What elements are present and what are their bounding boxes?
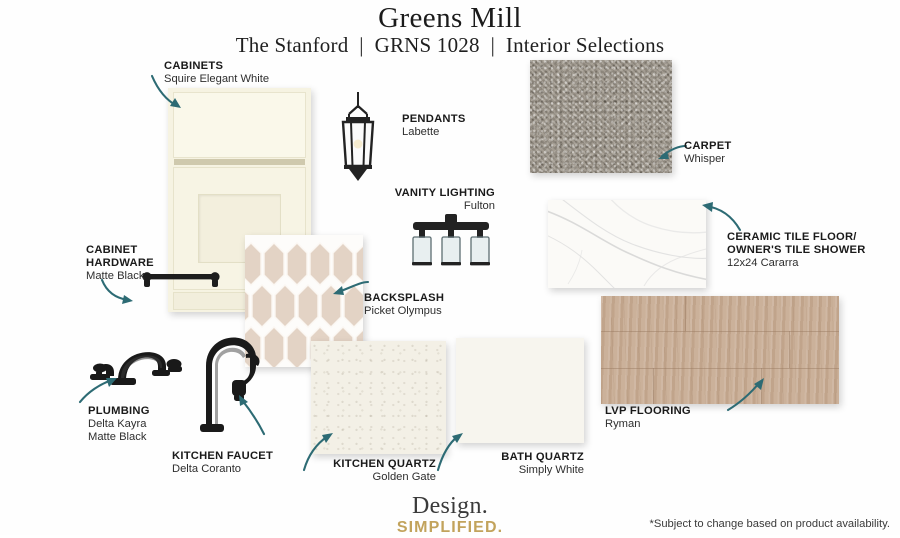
label-ceramic-tile: CERAMIC TILE FLOOR/ OWNER'S TILE SHOWER … — [727, 231, 887, 270]
selections-board: Greens Mill The Stanford | GRNS 1028 | I… — [0, 0, 900, 535]
label-carpet: CARPET Whisper — [684, 140, 732, 166]
carpet-texture-weave — [530, 60, 672, 173]
label-pendants: PENDANTS Labette — [402, 113, 466, 139]
arrow-lvp-flooring — [726, 378, 774, 414]
cabinet-reveal — [174, 159, 305, 165]
swatch-carpet — [530, 60, 672, 173]
disclaimer-text: *Subject to change based on product avai… — [650, 518, 890, 530]
marble-veining — [548, 200, 706, 288]
arrow-plumbing — [78, 372, 126, 406]
label-backsplash: BACKSPLASH Picket Olympus — [364, 292, 444, 318]
label-lvp-flooring: LVP FLOORING Ryman — [605, 405, 691, 431]
page-title: Greens Mill — [0, 2, 900, 35]
product-pendant-light — [327, 92, 389, 187]
brand-logo: Design. SIMPLIFIED. — [0, 494, 900, 538]
label-kitchen-quartz: KITCHEN QUARTZ Golden Gate — [306, 458, 436, 484]
label-vanity-lighting: VANITY LIGHTING Fulton — [355, 187, 495, 213]
logo-line-design: Design. — [0, 494, 900, 518]
label-bath-quartz: BATH QUARTZ Simply White — [466, 451, 584, 477]
page-subtitle: The Stanford | GRNS 1028 | Interior Sele… — [0, 33, 900, 58]
lvp-plank-seams — [601, 296, 839, 404]
arrow-kitchen-faucet — [224, 390, 268, 438]
swatch-ceramic-tile — [548, 200, 706, 288]
label-cabinets: CABINETS Squire Elegant White — [164, 60, 269, 86]
swatch-bath-quartz — [456, 338, 584, 443]
label-plumbing: PLUMBING Delta Kayra Matte Black — [88, 405, 150, 444]
label-cabinet-hardware: CABINET HARDWARE Matte Black — [86, 244, 178, 283]
product-vanity-light — [395, 212, 507, 278]
label-kitchen-faucet: KITCHEN FAUCET Delta Coranto — [172, 450, 273, 476]
swatch-lvp-flooring — [601, 296, 839, 404]
